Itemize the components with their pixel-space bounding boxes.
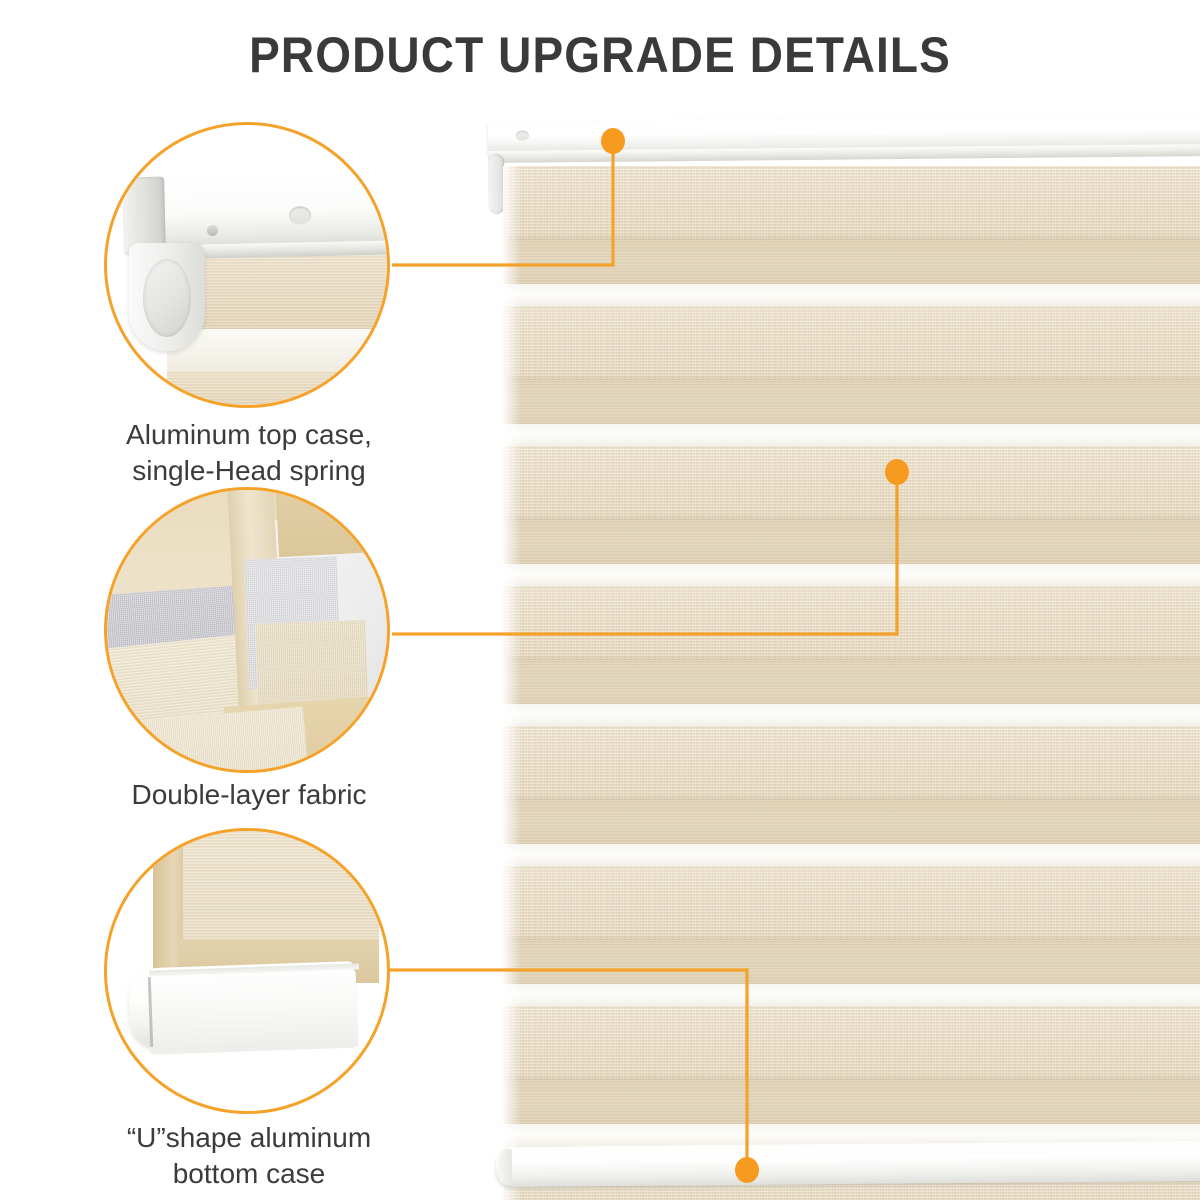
connector-line-3	[380, 970, 747, 1170]
aluminum-rail	[138, 174, 387, 252]
callout-image-top-case	[107, 125, 387, 405]
connector-line-2	[392, 474, 897, 634]
callout-caption-3: “U”shape aluminum bottom case	[84, 1120, 414, 1192]
callout-image-fabric	[107, 490, 387, 770]
callout-caption-1: Aluminum top case, single-Head spring	[84, 417, 414, 489]
infographic-page: PRODUCT UPGRADE DETAILS	[0, 0, 1200, 1200]
bracket-screw-icon	[207, 225, 218, 236]
callout-circle-1	[104, 122, 390, 408]
callout-marker-1[interactable]	[601, 128, 625, 154]
fabric-detail	[193, 255, 387, 329]
fabric-sheer-detail	[167, 329, 387, 371]
callout-caption-2: Double-layer fabric	[84, 777, 414, 813]
fabric-detail-lower	[167, 371, 387, 405]
callout-marker-3[interactable]	[735, 1157, 759, 1183]
rail-dimple-icon	[289, 206, 311, 224]
connector-line-1	[392, 142, 613, 265]
callout-image-bottom-case	[107, 831, 387, 1111]
fabric-tan-panel	[275, 490, 387, 557]
caption-line-2: bottom case	[84, 1156, 414, 1192]
callout-circle-3	[104, 828, 390, 1114]
caption-line-2: single-Head spring	[84, 453, 414, 489]
u-shape-rail-front	[148, 969, 359, 1054]
callout-marker-2[interactable]	[885, 459, 909, 485]
callout-circle-2	[104, 487, 390, 773]
head-spring	[143, 259, 191, 337]
caption-line-1: Aluminum top case,	[84, 417, 414, 453]
caption-line-1: “U”shape aluminum	[84, 1120, 414, 1156]
caption-line-1: Double-layer fabric	[84, 777, 414, 813]
